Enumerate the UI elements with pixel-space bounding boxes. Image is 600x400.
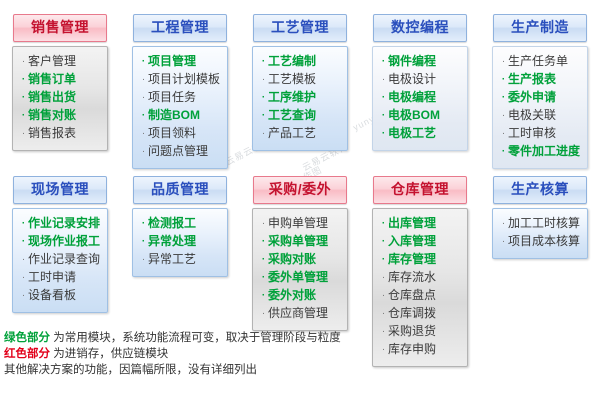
module-item-label: 申购单管理 [268,215,328,231]
module-header-chip[interactable]: 工艺管理 [253,14,347,42]
bullet-icon: · [379,90,388,106]
module-item[interactable]: ·异常处理 [139,233,223,251]
module-item-label: 钢件编程 [388,53,436,69]
module-item-label: 采购单管理 [268,233,328,249]
bullet-icon: · [259,234,268,250]
module-item-label: 电极工艺 [388,125,436,141]
module-item[interactable]: ·库存管理 [379,251,463,269]
module-item-label: 电极BOM [388,107,440,123]
module-item[interactable]: ·入库管理 [379,233,463,251]
module-item-label: 销售出货 [28,89,76,105]
module-column: 生产制造·生产任务单·生产报表·委外申请·电极关联·工时审核·零件加工进度 [480,14,600,169]
bullet-icon: · [499,126,508,142]
bullet-icon: · [139,72,148,88]
legend-line-note: 其他解决方案的功能，因篇幅所限，没有详细列出 [4,362,424,378]
module-item[interactable]: ·作业记录查询 [19,251,103,269]
module-item[interactable]: ·项目计划模板 [139,71,223,89]
bullet-icon: · [379,216,388,232]
module-item[interactable]: ·作业记录安排 [19,215,103,233]
bullet-icon: · [499,144,508,160]
bullet-icon: · [379,54,388,70]
bullet-icon: · [259,216,268,232]
module-header-chip[interactable]: 现场管理 [13,176,107,204]
module-column: 工程管理·项目管理·项目计划模板·项目任务·制造BOM·项目领料·问题点管理 [120,14,240,169]
module-item[interactable]: ·工艺模板 [259,71,343,89]
module-item-label: 工艺模板 [268,71,316,87]
module-item[interactable]: ·钢件编程 [379,53,463,71]
module-item-label: 检测报工 [148,215,196,231]
module-row-1: 销售管理·客户管理·销售订单·销售出货·销售对账·销售报表工程管理·项目管理·项… [0,14,600,169]
bullet-icon: · [139,144,148,160]
module-item-panel: ·申购单管理·采购单管理·采购对账·委外单管理·委外对账·供应商管理 [252,208,348,331]
module-item-panel: ·客户管理·销售订单·销售出货·销售对账·销售报表 [12,46,108,151]
module-item-label: 异常处理 [148,233,196,249]
module-item[interactable]: ·电极BOM [379,107,463,125]
module-item[interactable]: ·采购对账 [259,251,343,269]
bullet-icon: · [379,252,388,268]
legend-line-red: 红色部分 为进销存，供应链模块 [4,346,424,362]
module-item-panel: ·项目管理·项目计划模板·项目任务·制造BOM·项目领料·问题点管理 [132,46,228,169]
module-item-label: 销售订单 [28,71,76,87]
bullet-icon: · [499,234,508,250]
bullet-icon: · [379,234,388,250]
module-item-label: 工时申请 [28,269,76,285]
bullet-icon: · [19,270,28,286]
bullet-icon: · [19,72,28,88]
module-item-label: 库存流水 [388,269,436,285]
bullet-icon: · [139,54,148,70]
module-item-label: 项目领料 [148,125,196,141]
legend-red-text: 为进销存，供应链模块 [50,348,168,360]
module-item-label: 客户管理 [28,53,76,69]
module-item-label: 零件加工进度 [508,143,580,159]
module-item-label: 制造BOM [148,107,200,123]
legend-red-tag: 红色部分 [4,348,50,360]
bullet-icon: · [19,90,28,106]
module-item-label: 出库管理 [388,215,436,231]
module-item-label: 仓库盘点 [388,287,436,303]
module-item[interactable]: ·申购单管理 [259,215,343,233]
bullet-icon: · [139,126,148,142]
module-item-label: 异常工艺 [148,251,196,267]
bullet-icon: · [19,126,28,142]
module-item[interactable]: ·工时申请 [19,269,103,287]
module-item[interactable]: ·工时审核 [499,125,583,143]
module-item[interactable]: ·出库管理 [379,215,463,233]
module-item[interactable]: ·异常工艺 [139,251,223,269]
module-item[interactable]: ·电极编程 [379,89,463,107]
bullet-icon: · [379,72,388,88]
module-item[interactable]: ·制造BOM [139,107,223,125]
module-item-label: 电极编程 [388,89,436,105]
module-item-label: 采购对账 [268,251,316,267]
module-item[interactable]: ·仓库调拨 [379,305,463,323]
bullet-icon: · [379,108,388,124]
module-item-panel: ·钢件编程·电极设计·电极编程·电极BOM·电极工艺 [372,46,468,151]
module-item[interactable]: ·问题点管理 [139,143,223,161]
bullet-icon: · [19,288,28,304]
module-column: 销售管理·客户管理·销售订单·销售出货·销售对账·销售报表 [0,14,120,169]
bullet-icon: · [259,108,268,124]
module-item[interactable]: ·库存流水 [379,269,463,287]
module-item[interactable]: ·工艺查询 [259,107,343,125]
module-item-panel: ·工艺编制·工艺模板·工序维护·工艺查询·产品工艺 [252,46,348,151]
module-item-panel: ·作业记录安排·现场作业报工·作业记录查询·工时申请·设备看板 [12,208,108,313]
legend-green-text: 为常用模块，系统功能流程可变，取决于管理阶段与粒度 [50,332,341,344]
module-item[interactable]: ·生产报表 [499,71,583,89]
legend-green-tag: 绿色部分 [4,332,50,344]
module-item-label: 仓库调拨 [388,305,436,321]
module-item-label: 工时审核 [508,125,556,141]
bullet-icon: · [499,72,508,88]
module-header-chip[interactable]: 品质管理 [133,176,227,204]
module-item-label: 入库管理 [388,233,436,249]
module-item[interactable]: ·客户管理 [19,53,103,71]
bullet-icon: · [379,288,388,304]
module-item-label: 委外单管理 [268,269,328,285]
module-item-label: 委外对账 [268,287,316,303]
module-header-chip[interactable]: 数控编程 [373,14,467,42]
bullet-icon: · [379,270,388,286]
module-item[interactable]: ·电极工艺 [379,125,463,143]
module-header-chip[interactable]: 销售管理 [13,14,107,42]
bullet-icon: · [379,306,388,322]
module-item-label: 销售对账 [28,107,76,123]
bullet-icon: · [139,90,148,106]
module-header-chip[interactable]: 生产核算 [493,176,587,204]
module-column: 工艺管理·工艺编制·工艺模板·工序维护·工艺查询·产品工艺 [240,14,360,169]
module-item[interactable]: ·销售对账 [19,107,103,125]
bullet-icon: · [19,108,28,124]
bullet-icon: · [259,252,268,268]
bullet-icon: · [139,252,148,268]
module-item-label: 委外申请 [508,89,556,105]
module-item-panel: ·加工工时核算·项目成本核算 [492,208,588,259]
bullet-icon: · [499,90,508,106]
module-header-chip[interactable]: 仓库管理 [373,176,467,204]
module-item[interactable]: ·工序维护 [259,89,343,107]
module-item-label: 工艺查询 [268,107,316,123]
module-item-label: 现场作业报工 [28,233,100,249]
module-item-label: 项目计划模板 [148,71,220,87]
bullet-icon: · [19,252,28,268]
module-item[interactable]: ·委外申请 [499,89,583,107]
module-item[interactable]: ·项目管理 [139,53,223,71]
module-item[interactable]: ·销售报表 [19,125,103,143]
module-item[interactable]: ·项目任务 [139,89,223,107]
module-item-label: 库存管理 [388,251,436,267]
module-item-label: 作业记录安排 [28,215,100,231]
module-item-label: 销售报表 [28,125,76,141]
module-item-label: 加工工时核算 [508,215,580,231]
module-item-label: 生产报表 [508,71,556,87]
module-item[interactable]: ·电极设计 [379,71,463,89]
module-item-label: 生产任务单 [508,53,568,69]
module-item[interactable]: ·加工工时核算 [499,215,583,233]
bullet-icon: · [259,126,268,142]
bullet-icon: · [139,234,148,250]
module-item[interactable]: ·委外对账 [259,287,343,305]
module-item[interactable]: ·采购单管理 [259,233,343,251]
module-header-chip[interactable]: 采购/委外 [253,176,347,204]
module-item-label: 供应商管理 [268,305,328,321]
bullet-icon: · [379,126,388,142]
bullet-icon: · [259,306,268,322]
module-item-label: 电极关联 [508,107,556,123]
module-item-label: 设备看板 [28,287,76,303]
module-column: 数控编程·钢件编程·电极设计·电极编程·电极BOM·电极工艺 [360,14,480,169]
bullet-icon: · [499,54,508,70]
module-item[interactable]: ·工艺编制 [259,53,343,71]
module-header-chip[interactable]: 生产制造 [493,14,587,42]
module-item-panel: ·检测报工·异常处理·异常工艺 [132,208,228,277]
module-header-chip[interactable]: 工程管理 [133,14,227,42]
module-item[interactable]: ·销售订单 [19,71,103,89]
module-item[interactable]: ·生产任务单 [499,53,583,71]
bullet-icon: · [259,288,268,304]
module-item-label: 产品工艺 [268,125,316,141]
module-item[interactable]: ·委外单管理 [259,269,343,287]
module-item[interactable]: ·销售出货 [19,89,103,107]
module-item[interactable]: ·项目成本核算 [499,233,583,251]
module-item[interactable]: ·检测报工 [139,215,223,233]
module-column: 生产核算·加工工时核算·项目成本核算 [480,176,600,367]
bullet-icon: · [499,108,508,124]
bullet-icon: · [19,234,28,250]
module-item-label: 项目成本核算 [508,233,580,249]
module-item[interactable]: ·零件加工进度 [499,143,583,161]
module-item-label: 问题点管理 [148,143,208,159]
module-item-label: 电极设计 [388,71,436,87]
module-item[interactable]: ·项目领料 [139,125,223,143]
module-item-label: 工序维护 [268,89,316,105]
bullet-icon: · [139,216,148,232]
erp-module-diagram: 云易云软件作图 云易云软件 yunyiyun.com 云易云软件作图 云易云 销… [0,0,600,400]
bullet-icon: · [259,72,268,88]
bullet-icon: · [499,216,508,232]
bullet-icon: · [259,90,268,106]
bullet-icon: · [19,54,28,70]
module-item-label: 项目管理 [148,53,196,69]
bullet-icon: · [259,54,268,70]
module-item-label: 作业记录查询 [28,251,100,267]
module-item[interactable]: ·供应商管理 [259,305,343,323]
bullet-icon: · [19,216,28,232]
legend: 绿色部分 为常用模块，系统功能流程可变，取决于管理阶段与粒度 红色部分 为进销存… [4,330,424,378]
module-item[interactable]: ·现场作业报工 [19,233,103,251]
module-item-label: 工艺编制 [268,53,316,69]
bullet-icon: · [259,270,268,286]
module-item-panel: ·生产任务单·生产报表·委外申请·电极关联·工时审核·零件加工进度 [492,46,588,169]
module-item[interactable]: ·产品工艺 [259,125,343,143]
bullet-icon: · [139,108,148,124]
module-item[interactable]: ·设备看板 [19,287,103,305]
module-item[interactable]: ·仓库盘点 [379,287,463,305]
module-item[interactable]: ·电极关联 [499,107,583,125]
module-item-label: 项目任务 [148,89,196,105]
legend-line-green: 绿色部分 为常用模块，系统功能流程可变，取决于管理阶段与粒度 [4,330,424,346]
